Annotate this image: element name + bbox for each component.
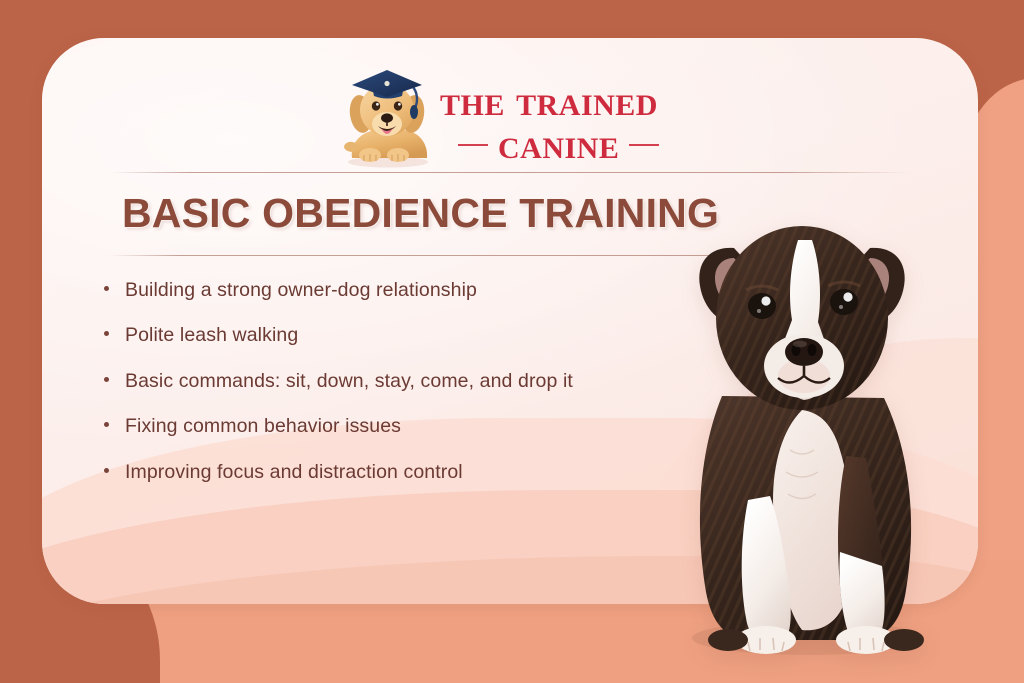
list-item-label: Polite leash walking xyxy=(125,323,298,347)
list-item-label: Basic commands: sit, down, stay, come, a… xyxy=(125,369,573,393)
list-item: Improving focus and distraction control xyxy=(104,460,573,484)
puppy-photo xyxy=(630,200,970,670)
bullet-dot-icon xyxy=(104,331,109,336)
brand-logo[interactable]: The Trained Canine xyxy=(342,52,659,168)
topics-list: Building a strong owner-dog relationship… xyxy=(104,278,573,505)
brand-rule-left xyxy=(458,144,488,146)
list-item: Basic commands: sit, down, stay, come, a… xyxy=(104,369,573,393)
list-item-label: Building a strong owner-dog relationship xyxy=(125,278,477,302)
list-item: Building a strong owner-dog relationship xyxy=(104,278,573,302)
brand-line-2-row: Canine xyxy=(440,124,659,165)
graduation-cap-golden-retriever-icon xyxy=(342,52,434,168)
bullet-dot-icon xyxy=(104,377,109,382)
slide-canvas: The Trained Canine BASIC OBEDIENCE TRAIN… xyxy=(0,0,1024,683)
list-item-label: Improving focus and distraction control xyxy=(125,460,463,484)
brand-rule-right xyxy=(629,144,659,146)
list-item: Fixing common behavior issues xyxy=(104,414,573,438)
bullet-dot-icon xyxy=(104,468,109,473)
brand-line-2: Canine xyxy=(498,124,619,165)
brand-wordmark: The Trained Canine xyxy=(440,55,659,166)
divider-top xyxy=(110,172,910,173)
bullet-dot-icon xyxy=(104,422,109,427)
bullet-dot-icon xyxy=(104,286,109,291)
brand-line-1: The Trained xyxy=(440,81,659,122)
list-item: Polite leash walking xyxy=(104,323,573,347)
list-item-label: Fixing common behavior issues xyxy=(125,414,401,438)
